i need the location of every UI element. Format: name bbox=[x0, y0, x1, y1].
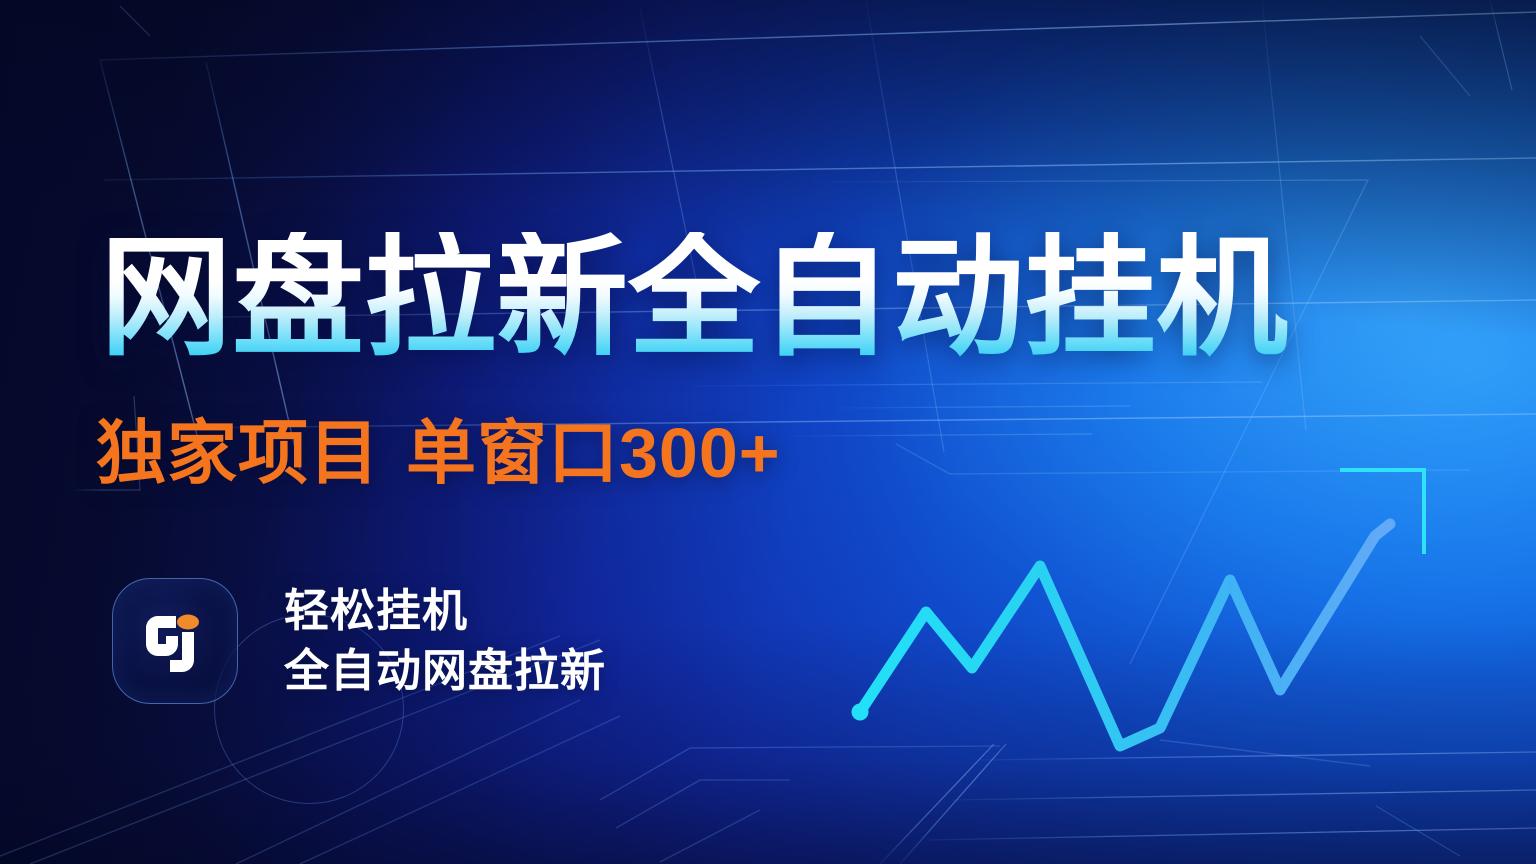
logo-gj-icon bbox=[132, 598, 218, 684]
subtitle-right: 单窗口300+ bbox=[406, 414, 781, 492]
subtitle: 独家项目单窗口300+ bbox=[96, 418, 781, 488]
logo-badge bbox=[112, 578, 238, 704]
promo-banner: 网盘拉新全自动挂机 独家项目单窗口300+ 轻松挂机 全自动网盘拉新 bbox=[0, 0, 1536, 864]
tagline-block: 轻松挂机 全自动网盘拉新 bbox=[284, 586, 606, 697]
subtitle-left: 独家项目 bbox=[96, 414, 380, 492]
chart-arrow-bracket bbox=[1342, 470, 1424, 552]
tagline-line-2: 全自动网盘拉新 bbox=[284, 646, 606, 696]
chart-line bbox=[860, 524, 1390, 746]
brand-block: 轻松挂机 全自动网盘拉新 bbox=[112, 578, 606, 704]
tagline-line-1: 轻松挂机 bbox=[284, 586, 606, 636]
chart-start-point bbox=[852, 704, 869, 721]
growth-chart bbox=[830, 440, 1490, 780]
page-title: 网盘拉新全自动挂机 bbox=[100, 232, 1288, 364]
logo-dot-icon bbox=[177, 615, 199, 630]
